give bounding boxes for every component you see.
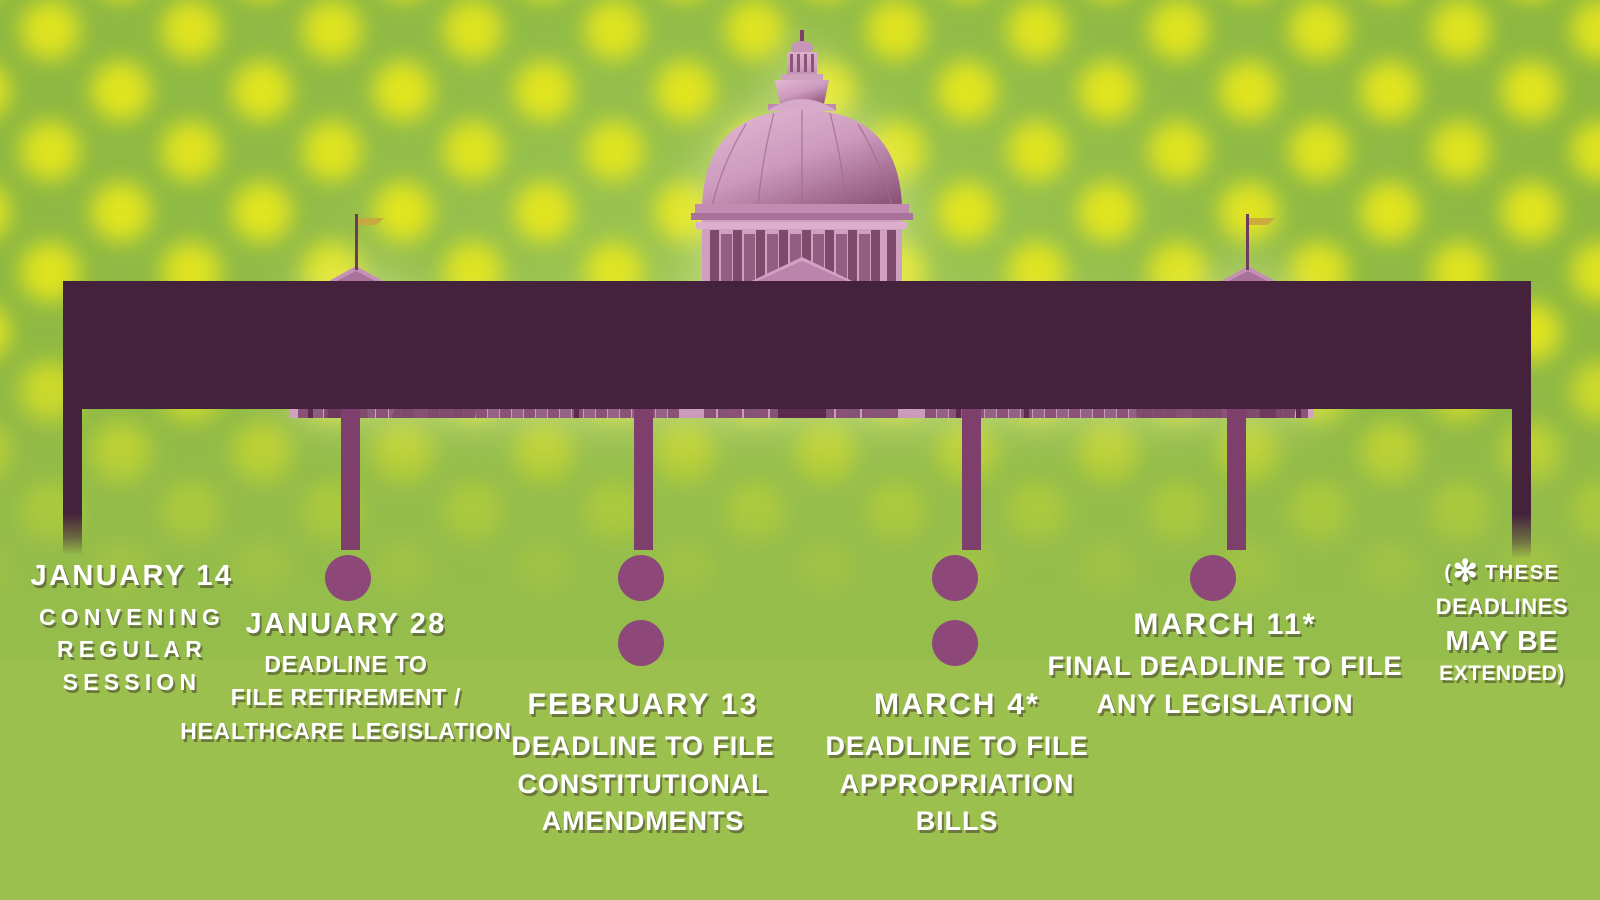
footnote-open-paren: ( [1444, 562, 1452, 584]
timeline-dot-mar4-b [932, 620, 978, 666]
timeline-bar [63, 281, 1531, 409]
milestone-desc-mar-11: FINAL DEADLINE TO FILE ANY LEGISLATION [1026, 648, 1424, 724]
footnote-line-1: (✻ THESE [1404, 552, 1600, 591]
milestone-date-jan-28: JANUARY 28 [168, 608, 524, 642]
timeline-dot-feb13-b [618, 620, 664, 666]
milestone-desc-jan-28: DEADLINE TO FILE RETIREMENT / HEALTHCARE… [168, 648, 524, 749]
timeline-stem-jan28 [341, 409, 360, 550]
timeline-dot-jan28 [325, 555, 371, 601]
footnote-line-2: DEADLINES [1404, 593, 1600, 622]
asterisk-icon: ✻ [1453, 555, 1478, 588]
timeline-stem-right-end [1512, 409, 1531, 559]
milestone-date-jan-14: JANUARY 14 [0, 560, 264, 594]
footnote-line-3: MAY BE [1404, 623, 1600, 659]
milestone-date-feb-13: FEBRUARY 13 [478, 688, 808, 723]
infographic-canvas: JANUARY 14 CONVENING REGULAR SESSION JAN… [0, 0, 1600, 900]
milestone-desc-mar-4: DEADLINE TO FILE APPROPRIATION BILLS [812, 728, 1102, 841]
timeline-dot-mar11 [1190, 555, 1236, 601]
timeline-stem-mar4 [962, 409, 981, 550]
timeline-stem-feb13 [634, 409, 653, 550]
timeline-dot-feb13-a [618, 555, 664, 601]
milestone-label-feb-13: FEBRUARY 13 DEADLINE TO FILE CONSTITUTIO… [478, 688, 808, 841]
milestone-date-mar-11: MARCH 11* [1026, 608, 1424, 643]
footnote-line-4: EXTENDED) [1404, 660, 1600, 687]
asterisk-footnote: (✻ THESE DEADLINES MAY BE EXTENDED) [1404, 552, 1600, 687]
milestone-desc-feb-13: DEADLINE TO FILE CONSTITUTIONAL AMENDMEN… [478, 728, 808, 841]
timeline-stem-jan14 [63, 409, 82, 555]
milestone-label-jan-28: JANUARY 28 DEADLINE TO FILE RETIREMENT /… [168, 608, 524, 748]
timeline-stem-mar11 [1227, 409, 1246, 550]
milestone-label-mar-11: MARCH 11* FINAL DEADLINE TO FILE ANY LEG… [1026, 608, 1424, 723]
timeline-dot-mar4-a [932, 555, 978, 601]
footnote-line-1-text: THESE [1485, 562, 1560, 584]
